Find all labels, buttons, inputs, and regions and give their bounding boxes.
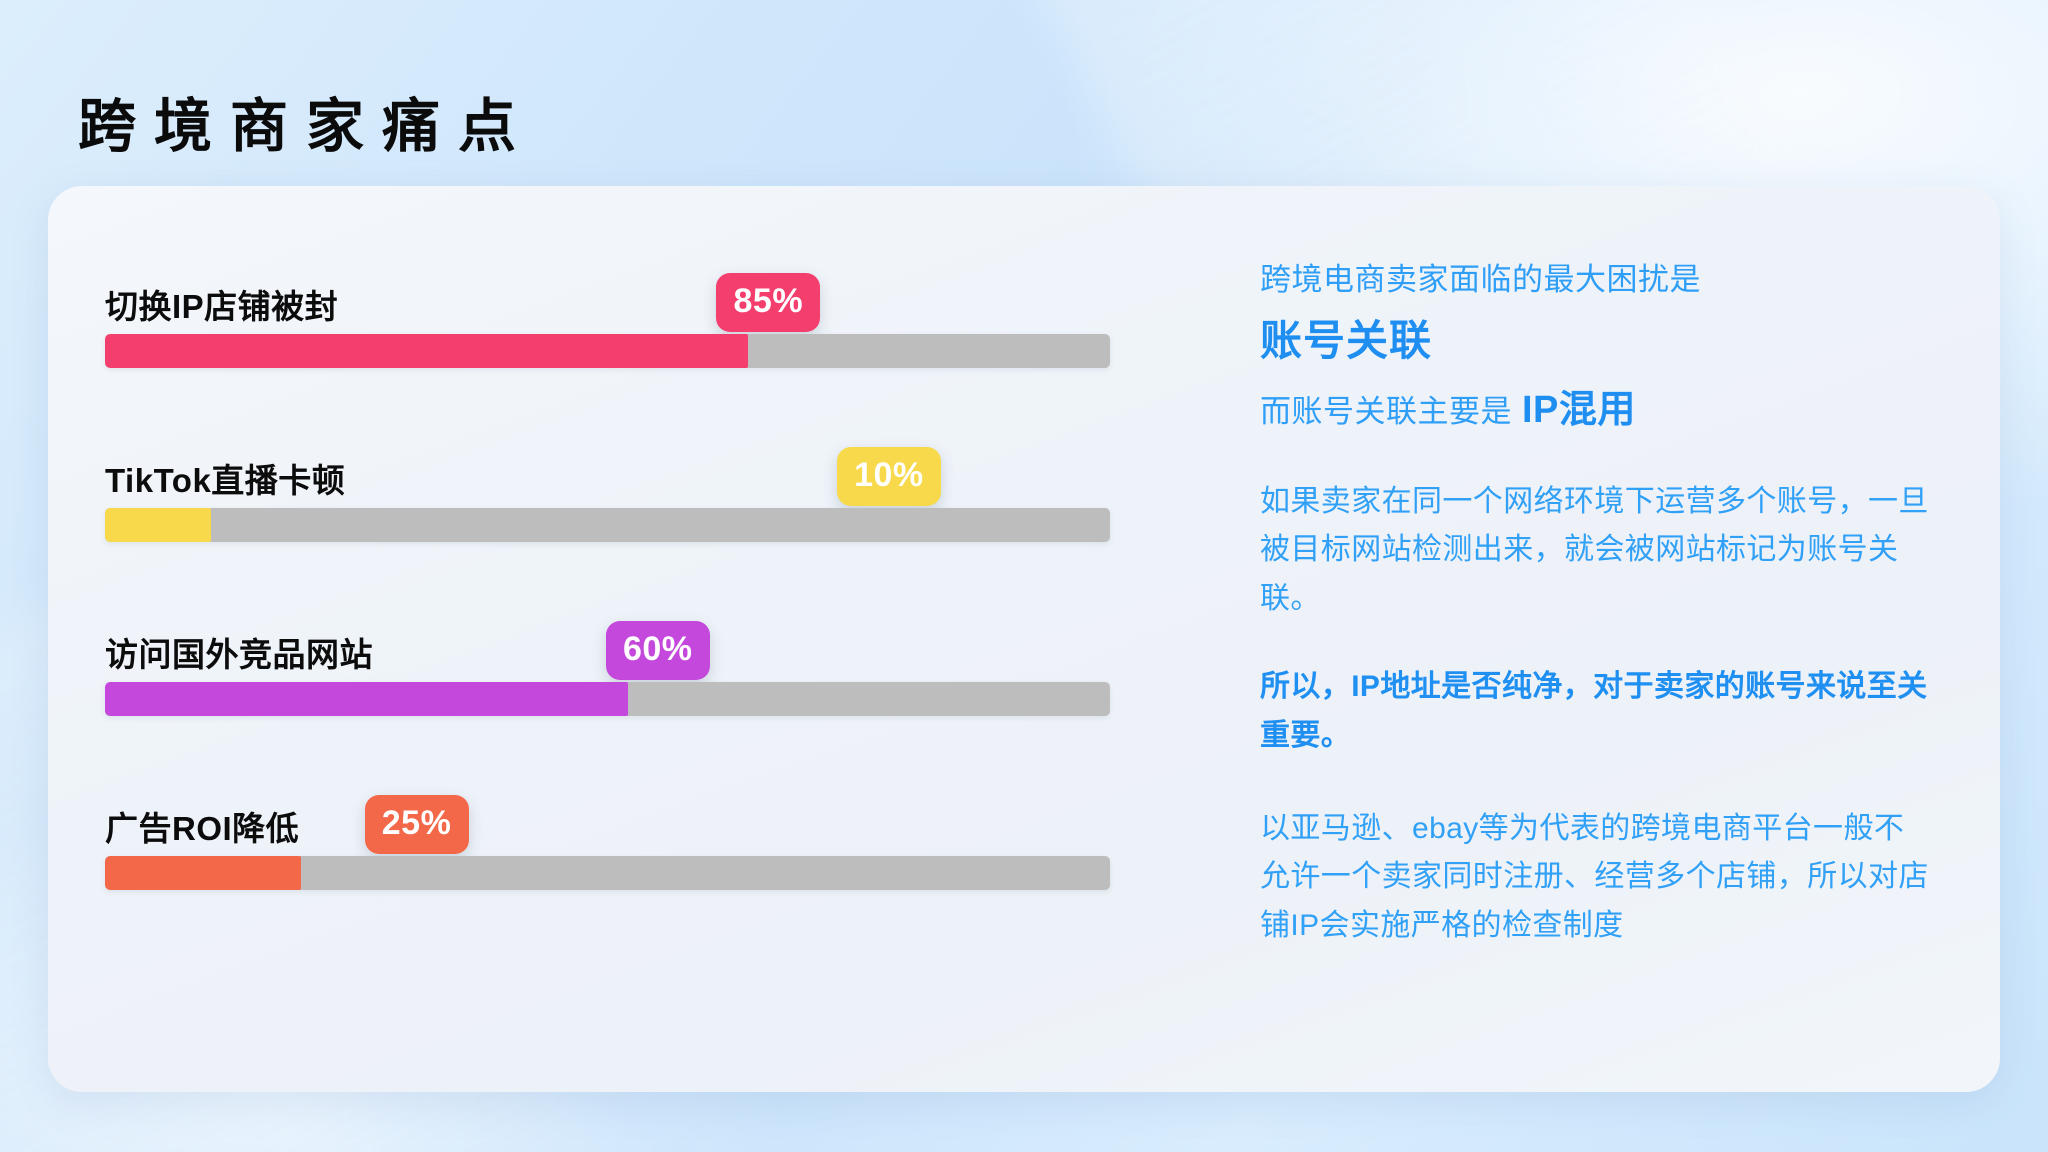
- copy-subline: 而账号关联主要是IP混用: [1260, 384, 1930, 437]
- bar-fill: [105, 856, 301, 890]
- bar-value-badge: 25%: [365, 795, 469, 854]
- bar-track: [105, 508, 1110, 542]
- bar-value-badge: 85%: [716, 273, 820, 332]
- bar-label: TikTok直播卡顿: [105, 454, 345, 502]
- bar-label: 广告ROI降低: [105, 802, 299, 850]
- bar-fill: [105, 682, 628, 716]
- copy-paragraph-3: 以亚马逊、ebay等为代表的跨境电商平台一般不允许一个卖家同时注册、经营多个店铺…: [1260, 805, 1930, 951]
- slide-root: 跨境商家痛点 切换IP店铺被封 85% TikTok直播卡顿 10%: [0, 0, 2048, 1152]
- bar-row: 广告ROI降低 25%: [105, 770, 1110, 890]
- bar-value-badge: 10%: [837, 447, 941, 506]
- copy-subline-prefix: 而账号关联主要是: [1260, 394, 1512, 429]
- description-panel: 跨境电商卖家面临的最大困扰是 账号关联 而账号关联主要是IP混用 如果卖家在同一…: [1188, 186, 2000, 1092]
- content-card: 切换IP店铺被封 85% TikTok直播卡顿 10%: [48, 186, 2000, 1092]
- bar-label: 切换IP店铺被封: [105, 280, 338, 328]
- bar-value-badge: 60%: [606, 621, 710, 680]
- bar-label: 访问国外竞品网站: [105, 628, 373, 676]
- bar-fill: [105, 508, 211, 542]
- copy-lead: 跨境电商卖家面临的最大困扰是: [1260, 258, 1930, 302]
- page-title: 跨境商家痛点: [78, 97, 534, 158]
- bar-track: [105, 334, 1110, 368]
- bar-row: 切换IP店铺被封 85%: [105, 248, 1110, 368]
- bar-fill: [105, 334, 748, 368]
- bar-track: [105, 856, 1110, 890]
- copy-paragraph-2: 所以，IP地址是否纯净，对于卖家的账号来说至关重要。: [1260, 663, 1930, 760]
- bar-row: 访问国外竞品网站 60%: [105, 596, 1110, 716]
- bar-track: [105, 682, 1110, 716]
- bar-chart: 切换IP店铺被封 85% TikTok直播卡顿 10%: [48, 186, 1188, 1092]
- copy-subline-strong: IP混用: [1522, 389, 1636, 431]
- copy-highlight: 账号关联: [1260, 316, 1930, 366]
- copy-paragraph-1: 如果卖家在同一个网络环境下运营多个账号，一旦被目标网站检测出来，就会被网站标记为…: [1260, 478, 1930, 624]
- bar-row: TikTok直播卡顿 10%: [105, 422, 1110, 542]
